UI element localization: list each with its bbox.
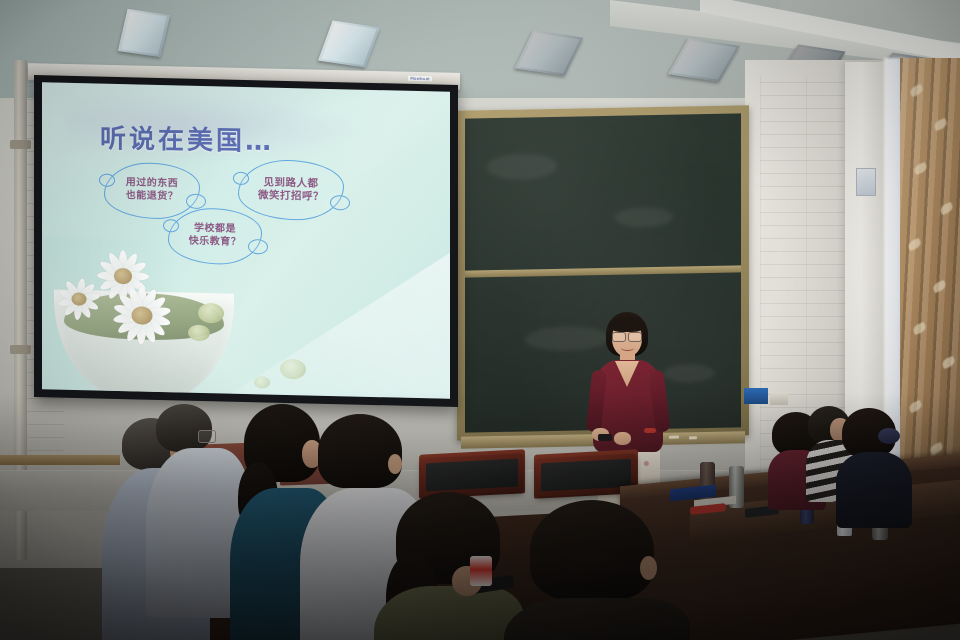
chalk-box-2	[770, 392, 788, 405]
moss-clump-2	[188, 325, 210, 342]
presenter-bangs	[609, 317, 645, 332]
slide-surface: 听说在美国… 用过的东西 也能退货？ 见到路人都 微笑打招呼？ 学校都是 快乐教…	[42, 82, 450, 399]
slide-title: 听说在美国…	[100, 118, 274, 158]
audience-4-ear	[388, 454, 402, 474]
moss-clump-3	[280, 359, 306, 380]
audience-2-glasses	[198, 430, 216, 443]
audience-6-bun	[570, 552, 624, 592]
chalk-box	[744, 388, 768, 404]
window-curtain	[900, 58, 960, 513]
projector-brand-label: Mowbuat	[408, 76, 432, 82]
bubble-1-line-1: 用过的东西	[126, 177, 179, 191]
red-cup	[470, 556, 492, 586]
side-attendee-3-hairtie	[878, 428, 900, 444]
audience-4-hair	[318, 414, 402, 488]
audience-2-hair	[156, 404, 212, 452]
audience-6-ear	[640, 556, 657, 580]
bubble-1-line-2: 也能退货？	[126, 190, 179, 204]
remote-clicker	[598, 434, 612, 441]
wood-rail	[0, 455, 120, 465]
presenter-bracelet	[644, 428, 656, 433]
audience-5-body	[374, 586, 524, 640]
pipe-collar-1	[10, 140, 31, 149]
projector-screen: 听说在美国… 用过的东西 也能退货？ 见到路人都 微笑打招呼？ 学校都是 快乐教…	[34, 75, 458, 407]
audience-6-body	[504, 598, 690, 640]
moss-clump-4	[254, 376, 270, 388]
slide-flower-photo	[48, 229, 253, 394]
wall-outlet	[856, 168, 876, 196]
pipe-collar-2	[10, 345, 31, 354]
classroom-scene: Mowbuat 听说在美国… 用过的东西 也能退货？ 见到路人都 微笑打招呼？	[0, 0, 960, 640]
side-attendee-3-body	[836, 452, 912, 528]
empty-chair-1	[421, 453, 523, 496]
presenter-smile	[621, 345, 634, 351]
presenter-glasses	[612, 332, 642, 340]
bubble-2-line-2: 微笑打招呼？	[258, 189, 324, 204]
moss-clump-1	[198, 303, 224, 324]
presenter-hand-right	[614, 432, 631, 445]
